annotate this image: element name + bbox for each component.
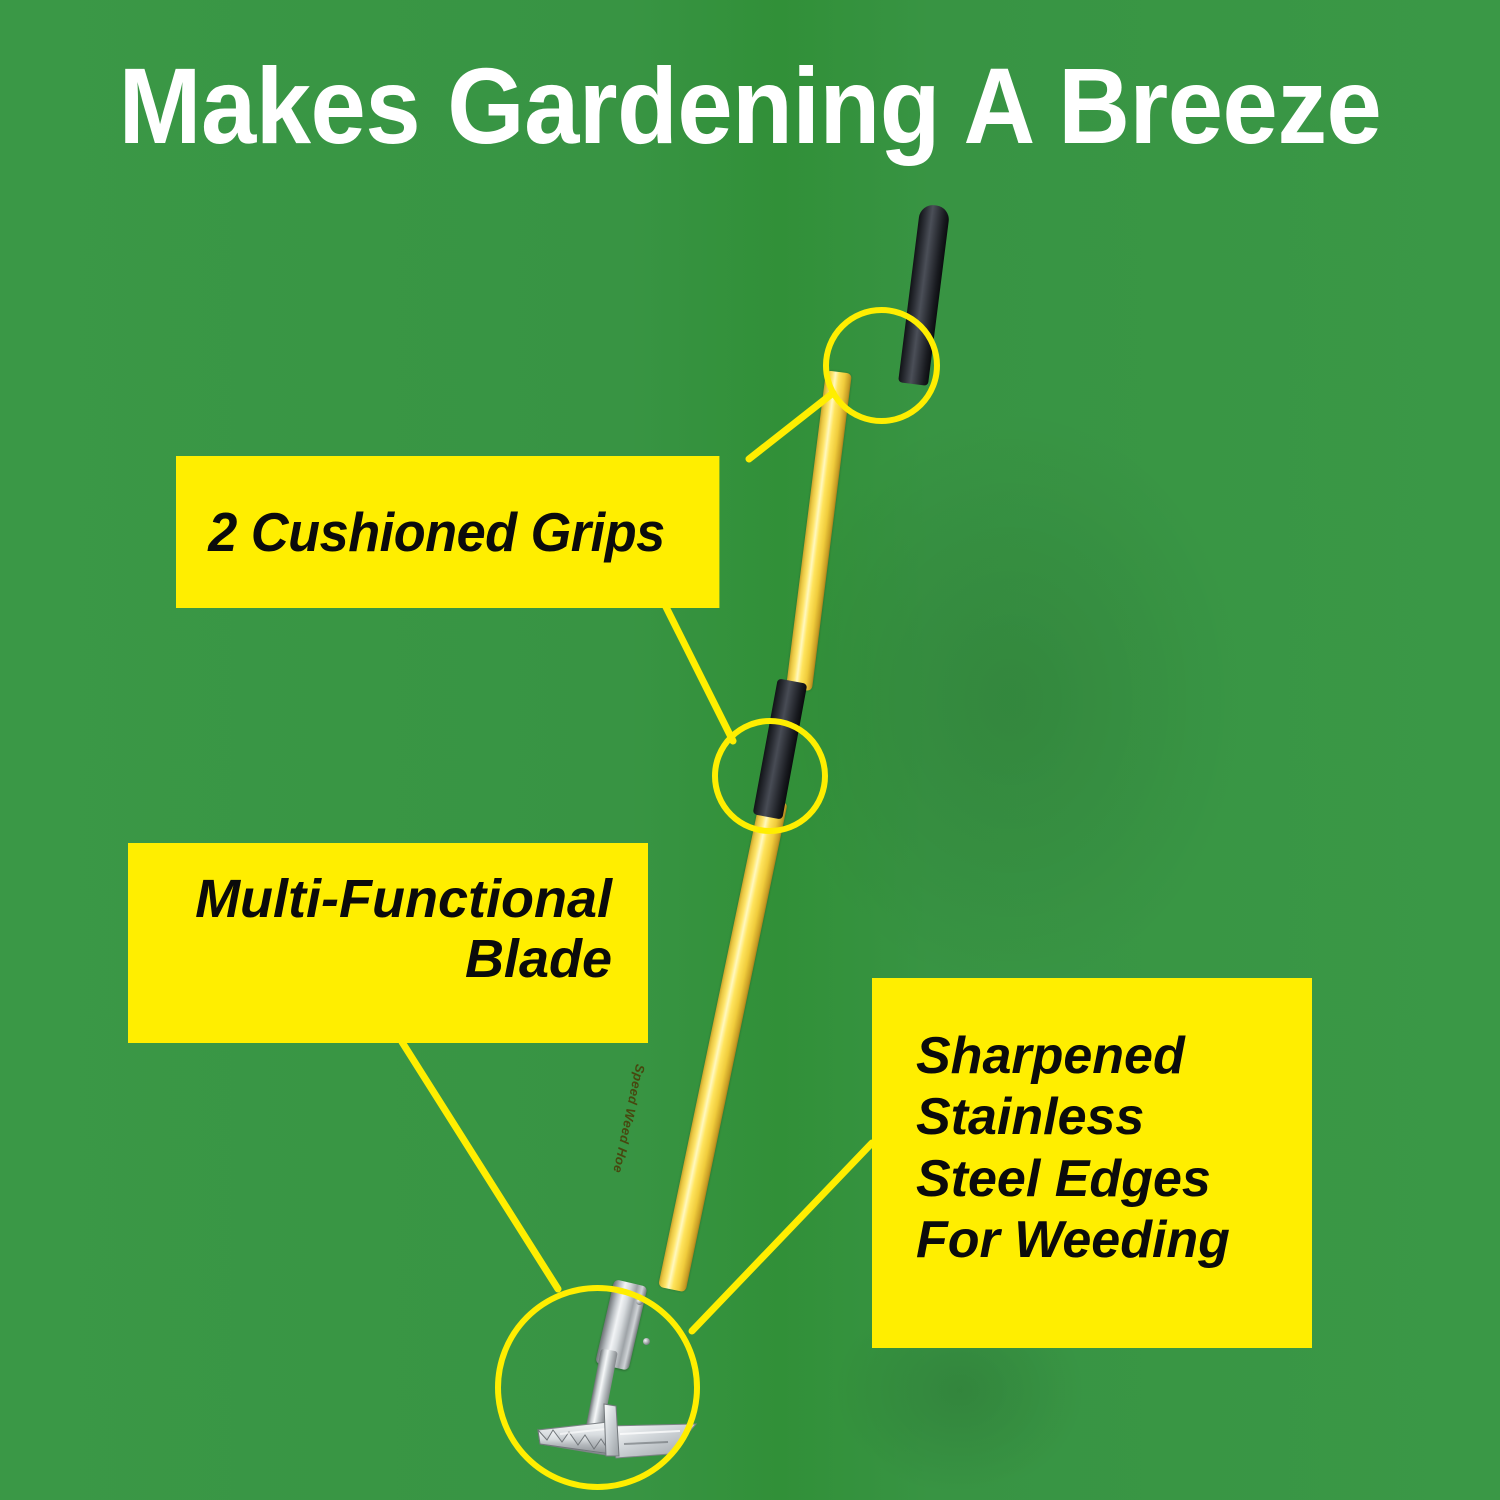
highlight-ring-top-grip <box>823 307 940 424</box>
leader-line-mid-grip <box>666 607 733 741</box>
leader-line-top-grip <box>749 393 833 459</box>
leader-line-edges <box>692 1143 872 1331</box>
product-feature-infographic: Makes Gardening A Breeze Speed Weed Hoe <box>0 0 1500 1500</box>
callout-edges-line-4: For Weeding <box>916 1210 1312 1271</box>
callout-edges-line-2: Stainless <box>916 1087 1312 1148</box>
callout-cushioned-grips: 2 Cushioned Grips <box>176 456 719 608</box>
callout-edges-line-1: Sharpened <box>916 1026 1312 1087</box>
highlight-ring-blade <box>495 1285 700 1490</box>
highlight-ring-mid-grip <box>712 718 828 834</box>
callout-multi-functional-blade: Multi-Functional Blade <box>128 843 648 1043</box>
callout-blade-line-2: Blade <box>128 929 612 989</box>
callout-sharpened-edges: Sharpened Stainless Steel Edges For Weed… <box>872 978 1312 1348</box>
leader-line-blade <box>402 1042 558 1289</box>
callout-blade-line-1: Multi-Functional <box>128 869 612 929</box>
callout-edges-line-3: Steel Edges <box>916 1149 1312 1210</box>
callout-cushioned-grips-label: 2 Cushioned Grips <box>208 500 664 564</box>
